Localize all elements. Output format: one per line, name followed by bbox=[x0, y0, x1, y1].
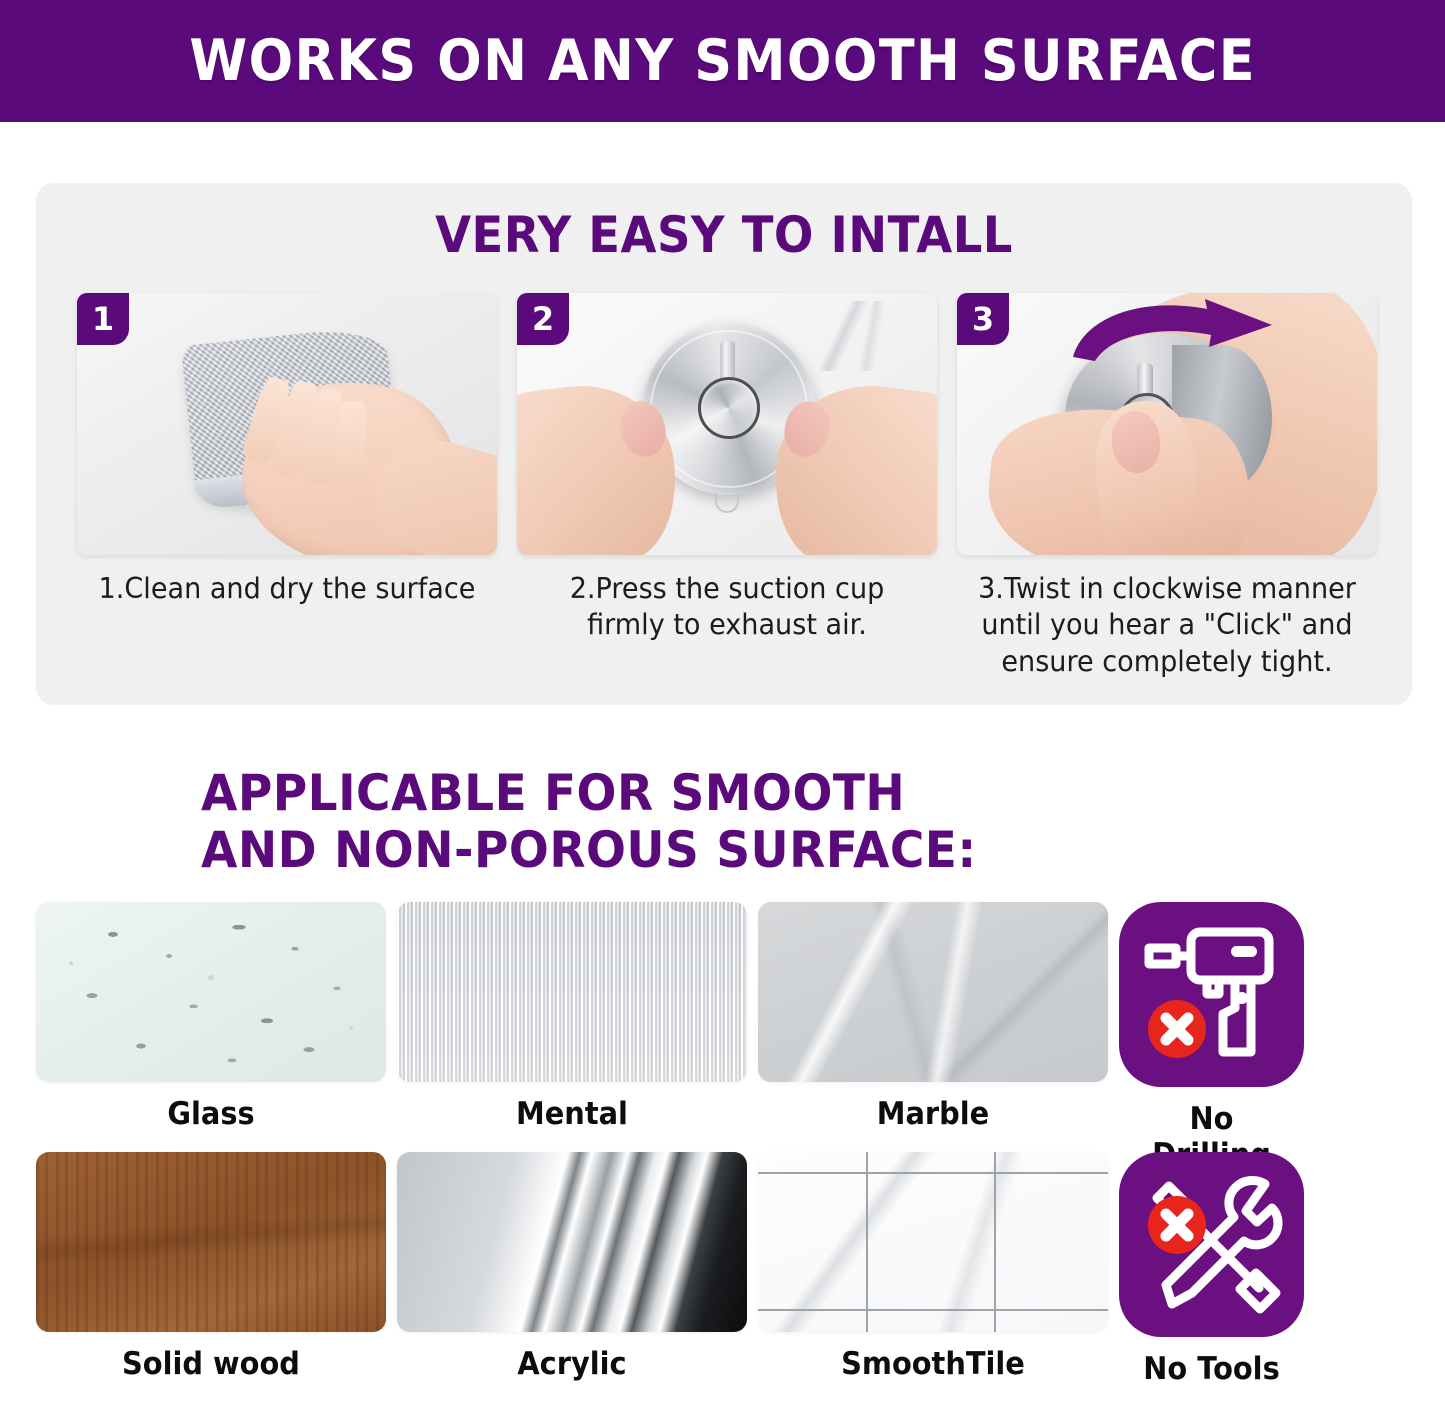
step-photo-twist-clockwise: 3 bbox=[957, 293, 1377, 555]
smooth-tile-swatch bbox=[758, 1152, 1108, 1332]
step-caption: 3.Twist in clockwise manneruntil you hea… bbox=[968, 571, 1367, 680]
applicable-heading-line-1: APPLICABLE FOR SMOOTH bbox=[201, 765, 1028, 822]
surface-cell-marble: Marble bbox=[758, 902, 1119, 1152]
grout-line bbox=[758, 1309, 1108, 1311]
surface-label: Acrylic bbox=[409, 1346, 735, 1382]
finger-graphic bbox=[335, 400, 368, 485]
grout-line bbox=[866, 1152, 868, 1332]
step-number-badge: 3 bbox=[957, 293, 1009, 345]
step-caption: 1.Clean and dry the surface bbox=[88, 571, 487, 607]
grout-line bbox=[994, 1152, 996, 1332]
surface-label: Marble bbox=[770, 1096, 1096, 1132]
step-photo-press-suction-cup: 2 bbox=[517, 293, 937, 555]
step-number-badge: 2 bbox=[517, 293, 569, 345]
feature-cell-no-drilling: No Drilling bbox=[1119, 902, 1412, 1152]
surface-cell-metal: Mental bbox=[397, 902, 758, 1152]
applicable-heading-line-2: AND NON-POROUS SURFACE: bbox=[201, 822, 1028, 879]
suction-cup-valve-graphic bbox=[715, 493, 739, 513]
surface-label: SmoothTile bbox=[770, 1346, 1096, 1382]
glass-swatch bbox=[36, 902, 386, 1082]
feature-label: No Tools bbox=[1125, 1351, 1297, 1387]
marble-swatch bbox=[758, 902, 1108, 1082]
surface-label: Mental bbox=[409, 1096, 735, 1132]
surface-cell-acrylic: Acrylic bbox=[397, 1152, 758, 1402]
no-drilling-badge bbox=[1119, 902, 1304, 1087]
step-photo-clean-surface: 1 bbox=[77, 293, 497, 555]
wrench-screwdriver-icon bbox=[1119, 1152, 1304, 1337]
solid-wood-swatch bbox=[36, 1152, 386, 1332]
surface-cell-glass: Glass bbox=[36, 902, 397, 1152]
install-step: 3 3.Twist in clockwise manneruntil you h… bbox=[957, 293, 1377, 680]
grout-line bbox=[758, 1172, 1108, 1174]
banner-title: WORKS ON ANY SMOOTH SURFACE bbox=[189, 28, 1256, 94]
drill-icon bbox=[1119, 902, 1304, 1087]
applicable-heading: APPLICABLE FOR SMOOTH AND NON-POROUS SUR… bbox=[201, 765, 1028, 878]
install-instructions-panel: VERY EASY TO INTALL 1 1.Clean and dry th… bbox=[36, 183, 1412, 705]
clockwise-rotation-arrow-icon bbox=[1067, 295, 1327, 365]
header-banner: WORKS ON ANY SMOOTH SURFACE bbox=[0, 0, 1445, 122]
surface-label: Glass bbox=[48, 1096, 374, 1132]
step-number-badge: 1 bbox=[77, 293, 129, 345]
feature-cell-no-tools: No Tools bbox=[1119, 1152, 1412, 1402]
suction-cup-hub-graphic bbox=[698, 377, 760, 439]
surface-cell-solid-wood: Solid wood bbox=[36, 1152, 397, 1402]
step-caption: 2.Press the suction cupfirmly to exhaust… bbox=[528, 571, 927, 644]
surface-grid: Glass Mental Marble No Drilling bbox=[36, 902, 1412, 1402]
metal-swatch bbox=[397, 902, 747, 1082]
no-tools-badge bbox=[1119, 1152, 1304, 1337]
install-step: 1 1.Clean and dry the surface bbox=[77, 293, 497, 680]
surface-cell-smooth-tile: SmoothTile bbox=[758, 1152, 1119, 1402]
install-heading: VERY EASY TO INTALL bbox=[84, 206, 1364, 264]
surface-label: Solid wood bbox=[48, 1346, 374, 1382]
install-steps: 1 1.Clean and dry the surface 2 bbox=[77, 293, 1377, 680]
acrylic-swatch bbox=[397, 1152, 747, 1332]
install-step: 2 2.Press the suction cupfirmly to exhau… bbox=[517, 293, 937, 680]
